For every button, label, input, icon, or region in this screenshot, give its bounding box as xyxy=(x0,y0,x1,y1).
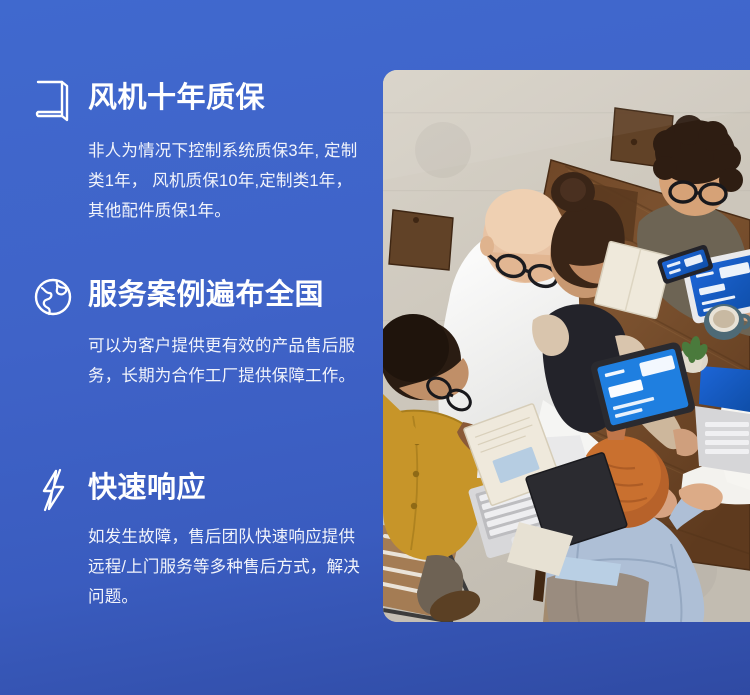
feature-list: 风机十年质保 非人为情况下控制系统质保3年, 定制类1年， 风机质保10年,定制… xyxy=(0,0,383,695)
feature-header: 风机十年质保 xyxy=(0,78,383,124)
feature-item-nationwide-service: 服务案例遍布全国 可以为客户提供更有效的产品售后服务，长期为合作工厂提供保障工作… xyxy=(0,275,383,321)
book-icon xyxy=(32,78,74,122)
globe-icon xyxy=(32,275,74,319)
feature-description: 如发生故障，售后团队快速响应提供远程/上门服务等多种售后方式，解决问题。 xyxy=(88,522,368,612)
promo-banner: 风机十年质保 非人为情况下控制系统质保3年, 定制类1年， 风机质保10年,定制… xyxy=(0,0,750,695)
feature-title: 快速响应 xyxy=(88,468,206,508)
feature-description: 可以为客户提供更有效的产品售后服务，长期为合作工厂提供保障工作。 xyxy=(88,331,368,391)
feature-item-fast-response: 快速响应 如发生故障，售后团队快速响应提供远程/上门服务等多种售后方式，解决问题… xyxy=(0,468,383,514)
lightning-bolt-icon xyxy=(32,468,74,512)
team-meeting-photo xyxy=(383,70,750,622)
feature-header: 快速响应 xyxy=(0,468,383,514)
feature-item-warranty: 风机十年质保 非人为情况下控制系统质保3年, 定制类1年， 风机质保10年,定制… xyxy=(0,78,383,124)
feature-title: 风机十年质保 xyxy=(88,78,265,118)
feature-title: 服务案例遍布全国 xyxy=(88,275,324,315)
feature-header: 服务案例遍布全国 xyxy=(0,275,383,321)
feature-description: 非人为情况下控制系统质保3年, 定制类1年， 风机质保10年,定制类1年，其他配… xyxy=(88,136,368,226)
